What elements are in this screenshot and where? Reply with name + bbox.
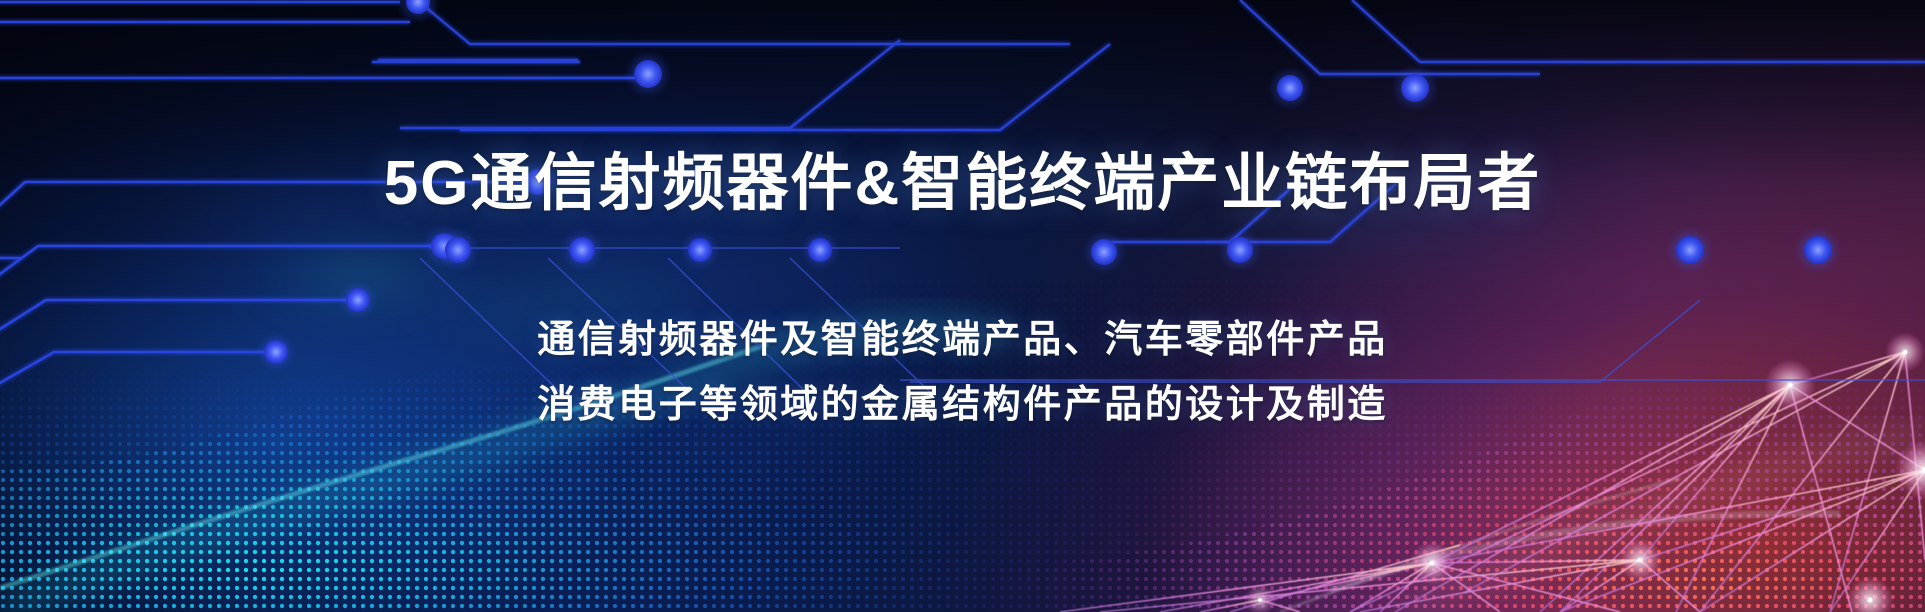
banner-subtitle: 通信射频器件及智能终端产品、汽车零部件产品 消费电子等领域的金属结构件产品的设计…: [537, 308, 1388, 439]
hero-banner: 5G通信射频器件&智能终端产业链布局者 通信射频器件及智能终端产品、汽车零部件产…: [0, 0, 1925, 612]
banner-headline: 5G通信射频器件&智能终端产业链布局者: [384, 152, 1541, 216]
banner-subtitle-line-1: 通信射频器件及智能终端产品、汽车零部件产品: [537, 308, 1388, 373]
banner-content: 5G通信射频器件&智能终端产业链布局者 通信射频器件及智能终端产品、汽车零部件产…: [0, 0, 1925, 612]
banner-subtitle-line-2: 消费电子等领域的金属结构件产品的设计及制造: [537, 373, 1388, 438]
